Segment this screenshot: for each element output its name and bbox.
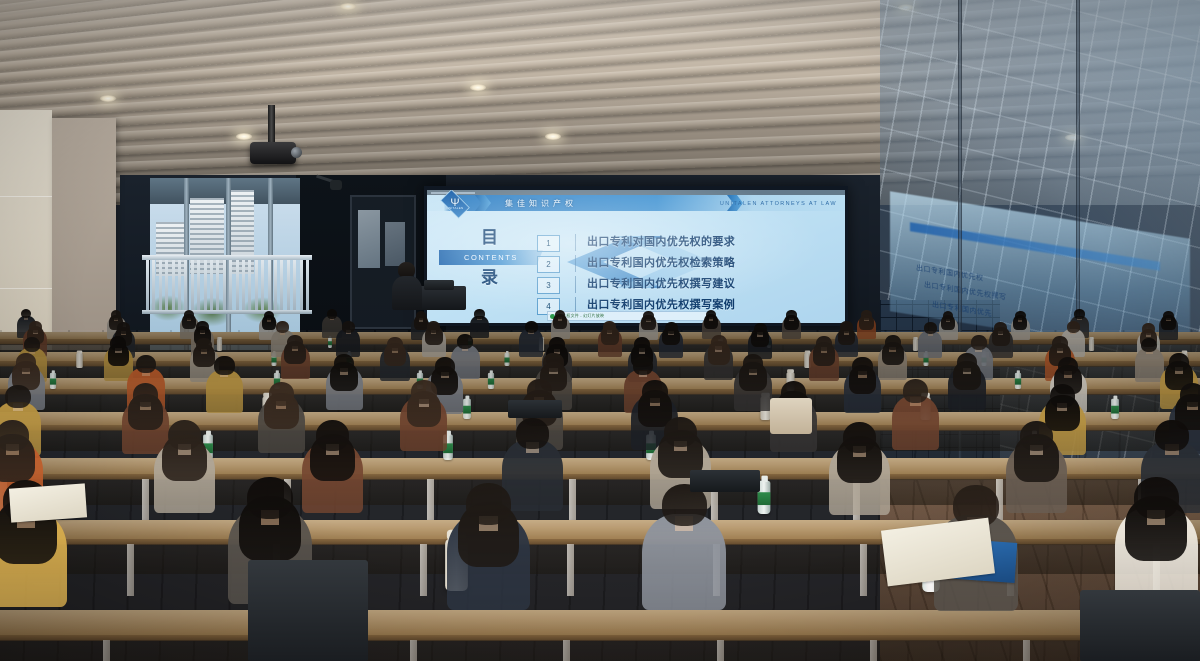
audience-head bbox=[136, 355, 156, 374]
desk-leg bbox=[427, 479, 434, 523]
desk-leg bbox=[1023, 640, 1030, 661]
desk-leg bbox=[127, 544, 134, 596]
railing-baluster bbox=[178, 260, 181, 312]
audience-head bbox=[168, 420, 201, 451]
water-bottle bbox=[505, 353, 510, 366]
audience-head bbox=[1169, 353, 1189, 372]
audience-head bbox=[971, 335, 987, 350]
logo-subtext: UNITALEN bbox=[440, 205, 470, 211]
railing-baluster bbox=[242, 260, 245, 312]
toc-number: 2 bbox=[537, 256, 560, 273]
desk-leg bbox=[567, 544, 574, 596]
audience-head bbox=[1074, 309, 1084, 319]
audience-head bbox=[957, 353, 977, 372]
contents-block: 目 CONTENTS 录 bbox=[437, 228, 542, 288]
ceiling-downlight bbox=[236, 133, 252, 140]
audience-head bbox=[516, 418, 549, 449]
audience-head bbox=[133, 383, 159, 407]
audience-head bbox=[110, 336, 126, 351]
audience-head bbox=[885, 335, 901, 350]
audience-head bbox=[111, 310, 121, 320]
railing-baluster bbox=[191, 260, 194, 312]
audience-head bbox=[247, 477, 293, 519]
railing-baluster bbox=[300, 260, 303, 312]
audience-head bbox=[861, 310, 871, 320]
slide-toc-row: 3出口专利国内优先权撰写建议 bbox=[537, 276, 837, 294]
desk-leg bbox=[410, 640, 417, 661]
student-desk bbox=[0, 520, 1200, 540]
railing-bottom-rail bbox=[142, 310, 312, 314]
desk-leg bbox=[717, 640, 724, 661]
water-bottle bbox=[50, 373, 56, 389]
audience-head bbox=[457, 334, 473, 349]
desk-leg bbox=[142, 479, 149, 523]
audience-head bbox=[1052, 336, 1068, 351]
wall-panel-seam-2 bbox=[0, 288, 52, 289]
audience-head bbox=[184, 310, 194, 320]
audience-head bbox=[264, 311, 274, 321]
railing-baluster bbox=[197, 260, 200, 312]
audience-head bbox=[1155, 420, 1188, 451]
railing-baluster bbox=[210, 260, 213, 312]
audience-head bbox=[743, 354, 763, 373]
audience-head bbox=[387, 337, 403, 352]
desk-leg bbox=[563, 640, 570, 661]
audience-head bbox=[316, 420, 349, 451]
audience-head bbox=[843, 422, 876, 453]
railing-baluster bbox=[248, 260, 251, 312]
audience-head bbox=[642, 380, 668, 404]
contents-char-top: 目 bbox=[437, 228, 542, 248]
toc-number: 1 bbox=[537, 235, 560, 252]
railing-baluster bbox=[172, 260, 175, 312]
railing-baluster bbox=[152, 260, 155, 312]
audience-head bbox=[1142, 323, 1155, 335]
railing-baluster bbox=[216, 260, 219, 312]
chair-back bbox=[1080, 590, 1200, 661]
water-bottle bbox=[488, 373, 494, 389]
toc-text: 出口专利国内优先权检索策略 bbox=[587, 255, 735, 272]
railing-baluster bbox=[184, 260, 187, 312]
toc-divider bbox=[575, 276, 576, 293]
slide-brand-en: UNITALEN ATTORNEYS AT LAW bbox=[720, 198, 837, 210]
audience-head bbox=[903, 379, 929, 403]
desk-leg bbox=[103, 640, 110, 661]
audience-head bbox=[664, 417, 697, 448]
audience-head bbox=[549, 337, 565, 352]
ceiling-downlight bbox=[470, 84, 486, 91]
audience-head bbox=[0, 420, 29, 451]
railing-baluster bbox=[268, 260, 271, 312]
desk-front-panel bbox=[0, 394, 1200, 412]
chair-back bbox=[248, 560, 368, 661]
slide-status-text: 优先权文件 - 幻灯片放映 bbox=[548, 312, 708, 320]
audience-head bbox=[1180, 383, 1200, 407]
desk-leg bbox=[420, 544, 427, 596]
window-header-beam bbox=[150, 178, 300, 204]
toc-text: 出口专利对国内优先权的要求 bbox=[587, 234, 735, 251]
audience-head bbox=[342, 321, 355, 333]
audience-head bbox=[276, 321, 289, 333]
student-desk bbox=[0, 610, 1200, 636]
audience-head bbox=[214, 356, 234, 375]
audience-head bbox=[852, 357, 872, 376]
railing-baluster bbox=[236, 260, 239, 312]
slide-title-cn: 集佳知识产权 bbox=[505, 197, 577, 210]
contents-label-bar: CONTENTS bbox=[439, 250, 543, 265]
railing-baluster bbox=[204, 260, 207, 312]
audience-laptop bbox=[690, 470, 760, 492]
projection-screen[interactable]: Ψ UNITALEN 集佳知识产权 UNITALEN ATTORNEYS AT … bbox=[427, 190, 845, 323]
audience-head bbox=[1050, 384, 1076, 408]
audience-head bbox=[466, 483, 512, 525]
audience-head bbox=[411, 380, 437, 404]
contents-label-en: CONTENTS bbox=[439, 250, 543, 265]
audience-head bbox=[1134, 477, 1180, 519]
audience-head bbox=[786, 310, 796, 320]
slide-toc-row: 2出口专利国内优先权检索策略 bbox=[537, 255, 837, 273]
audience-head bbox=[1067, 321, 1080, 333]
audience-head bbox=[634, 337, 650, 352]
audience-head bbox=[924, 322, 937, 334]
presenter-body bbox=[392, 276, 422, 310]
audience-head bbox=[269, 382, 295, 406]
audience-head bbox=[543, 353, 563, 372]
audience-head bbox=[1163, 311, 1173, 321]
audience-head bbox=[754, 323, 767, 335]
audience-head bbox=[840, 321, 853, 333]
railing-baluster bbox=[159, 260, 162, 312]
railing-baluster bbox=[261, 260, 264, 312]
slide-toc-row: 1出口专利对国内优先权的要求 bbox=[537, 234, 837, 252]
toc-divider bbox=[575, 255, 576, 272]
railing-baluster bbox=[146, 260, 149, 312]
railing-baluster bbox=[229, 260, 232, 312]
audience-head bbox=[474, 309, 484, 319]
thermos-bottle bbox=[76, 353, 83, 368]
desk-leg bbox=[870, 640, 877, 661]
paper-sheet bbox=[9, 483, 87, 522]
audience-head bbox=[29, 321, 42, 333]
railing-baluster bbox=[287, 260, 290, 312]
audience-head bbox=[1058, 357, 1078, 376]
audience-head bbox=[24, 337, 40, 352]
audience-head bbox=[643, 311, 653, 321]
railing-baluster bbox=[274, 260, 277, 312]
left-structural-column bbox=[52, 118, 116, 350]
presenter-laptop bbox=[424, 280, 454, 290]
wall-panel-seam bbox=[0, 196, 52, 197]
railing-baluster bbox=[223, 260, 226, 312]
desk-front-panel bbox=[0, 640, 1200, 661]
railing-baluster bbox=[280, 260, 283, 312]
audience-head bbox=[1020, 421, 1053, 452]
audience-head bbox=[5, 385, 31, 409]
security-camera-icon bbox=[330, 180, 342, 190]
water-bottle bbox=[1015, 373, 1021, 389]
audience-head bbox=[994, 322, 1007, 334]
audience-head bbox=[16, 353, 36, 372]
projector-mount-rod bbox=[268, 105, 275, 145]
audience-head bbox=[1015, 311, 1025, 321]
slide-status-bar: 优先权文件 - 幻灯片放映 bbox=[547, 311, 709, 321]
audience-head bbox=[943, 311, 953, 321]
toc-divider bbox=[575, 234, 576, 251]
tote-bag bbox=[770, 398, 812, 434]
audience-head bbox=[427, 321, 440, 333]
audience-head bbox=[711, 335, 727, 350]
balcony-railing bbox=[142, 255, 312, 317]
railing-baluster bbox=[165, 260, 168, 312]
railing-baluster bbox=[255, 260, 258, 312]
door-glass-panel bbox=[358, 210, 380, 268]
audience-head bbox=[633, 356, 653, 375]
audience-head bbox=[196, 321, 209, 333]
toc-text: 出口专利国内优先权撰写建议 bbox=[587, 276, 735, 293]
audience-head bbox=[117, 322, 130, 334]
door-glass-panel-secondary bbox=[385, 222, 405, 266]
audience-head bbox=[665, 322, 678, 334]
ceiling-downlight bbox=[100, 95, 116, 102]
desk-front-panel bbox=[0, 544, 1200, 574]
water-bottle bbox=[1111, 399, 1119, 419]
desk-leg bbox=[860, 544, 867, 596]
audience-head bbox=[287, 335, 303, 350]
water-bottle bbox=[463, 399, 471, 419]
audience-head bbox=[525, 321, 538, 333]
audience-head bbox=[327, 309, 337, 319]
audience-head bbox=[816, 336, 832, 351]
audience-head bbox=[334, 354, 354, 373]
audience-laptop bbox=[508, 400, 562, 418]
railing-baluster bbox=[293, 260, 296, 312]
audience-head bbox=[603, 321, 616, 333]
desk-leg bbox=[569, 479, 576, 523]
ceiling-downlight bbox=[340, 3, 356, 10]
water-bottle bbox=[328, 338, 332, 348]
ceiling-downlight bbox=[545, 133, 561, 140]
thermos-bottle bbox=[217, 339, 222, 351]
seminar-room-photo: Ψ UNITALEN 集佳知识产权 UNITALEN ATTORNEYS AT … bbox=[0, 0, 1200, 661]
audience-head bbox=[435, 357, 455, 376]
toc-number: 3 bbox=[537, 277, 560, 294]
railing-baluster bbox=[306, 260, 309, 312]
thermos-bottle bbox=[1089, 339, 1094, 351]
ceiling-projector bbox=[250, 142, 296, 164]
